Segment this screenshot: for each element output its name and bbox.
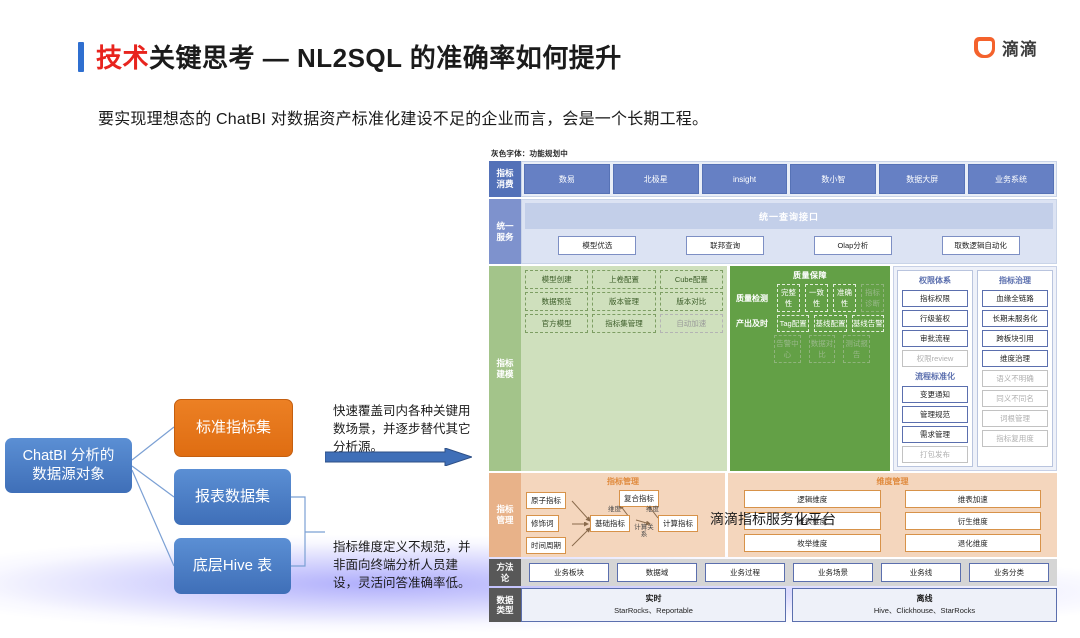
row-unified-service: 统一服务 统一查询接口 模型优选 联邦查询 Olap分析 取数逻辑自动化 xyxy=(489,199,1057,264)
node-chatbi-source: ChatBI 分析的数据源对象 xyxy=(5,438,132,493)
annotation-bottom: 指标维度定义不规范，并非面向终端分析人员建设，灵活问答准确率低。 xyxy=(333,538,475,592)
data-type-cell-offline: 离线 Hive、Clickhouse、StarRocks xyxy=(792,588,1057,622)
modeling-cell[interactable]: 版本管理 xyxy=(592,292,655,311)
consumption-cell[interactable]: insight xyxy=(702,164,788,194)
quality-row-label: 产出及时 xyxy=(736,318,772,329)
quality-row-label: 质量检测 xyxy=(736,293,772,304)
row-label-data-type: 数据类型 xyxy=(489,588,521,622)
modeling-cell[interactable]: 版本对比 xyxy=(660,292,723,311)
platform-caption: 滴滴指标服务化平台 xyxy=(489,509,1057,529)
graph-node-time-period: 时间周期 xyxy=(526,537,566,554)
side-item[interactable]: 需求管理 xyxy=(902,426,968,443)
quality-cell[interactable]: Tag配置 xyxy=(777,315,809,332)
methodology-cell[interactable]: 业务线 xyxy=(881,563,961,582)
row-label-unified-service: 统一服务 xyxy=(489,199,521,264)
methodology-cell[interactable]: 业务过程 xyxy=(705,563,785,582)
page-title: 技术关键思考 — NL2SQL 的准确率如何提升 xyxy=(78,38,622,75)
row-label-methodology: 方法论 xyxy=(489,559,521,586)
page-subtitle: 要实现理想态的 ChatBI 对数据资产标准化建设不足的企业而言，会是一个长期工… xyxy=(98,105,708,129)
methodology-cell[interactable]: 业务场景 xyxy=(793,563,873,582)
metric-management-title: 指标管理 xyxy=(524,476,722,487)
data-type-cell-realtime: 实时 StarRocks、Reportable xyxy=(521,588,786,622)
service-button[interactable]: 联邦查询 xyxy=(686,236,764,255)
modeling-cell[interactable]: 指标集管理 xyxy=(592,314,655,333)
side-item[interactable]: 管理规范 xyxy=(902,406,968,423)
quality-cell[interactable]: 完整性 xyxy=(777,284,800,312)
consumption-cell[interactable]: 数小智 xyxy=(790,164,876,194)
node-report-dataset: 报表数据集 xyxy=(174,469,291,525)
node-hive-table: 底层Hive 表 xyxy=(174,538,291,594)
methodology-cell[interactable]: 业务板块 xyxy=(529,563,609,582)
row-label-modeling: 指标建模 xyxy=(489,266,521,471)
governance-side-columns: 权限体系 指标权限 行级鉴权 审批流程 权限review 流程标准化 变更通知 … xyxy=(893,266,1057,471)
side-item[interactable]: 维度治理 xyxy=(982,350,1048,367)
modeling-cell[interactable]: 模型创建 xyxy=(525,270,588,289)
side-group-title: 流程标准化 xyxy=(902,370,968,383)
title-text: 技术关键思考 — NL2SQL 的准确率如何提升 xyxy=(96,38,622,75)
quality-cell[interactable]: 基线配置 xyxy=(814,315,846,332)
didi-logo: 滴滴 xyxy=(974,35,1038,60)
side-item[interactable]: 语义不明确 xyxy=(982,370,1048,387)
title-accent-bar xyxy=(78,42,84,72)
side-group-title: 权限体系 xyxy=(902,274,968,287)
data-type-detail: Hive、Clickhouse、StarRocks xyxy=(874,606,975,615)
consumption-cell[interactable]: 业务系统 xyxy=(968,164,1054,194)
side-column-permissions: 权限体系 指标权限 行级鉴权 审批流程 权限review 流程标准化 变更通知 … xyxy=(897,270,973,467)
side-item[interactable]: 审批流程 xyxy=(902,330,968,347)
dimension-cell[interactable]: 退化维度 xyxy=(905,534,1042,552)
side-item[interactable]: 同义不同名 xyxy=(982,390,1048,407)
row-label-consumption: 指标消费 xyxy=(489,161,521,197)
modeling-cell[interactable]: 数据预览 xyxy=(525,292,588,311)
side-item[interactable]: 血缘全链路 xyxy=(982,290,1048,307)
service-button[interactable]: 模型优选 xyxy=(558,236,636,255)
title-rest: 关键思考 — NL2SQL 的准确率如何提升 xyxy=(149,43,622,73)
graph-node-atomic-metric: 原子指标 xyxy=(526,492,566,509)
side-group-title: 指标治理 xyxy=(982,274,1048,287)
metric-platform-diagram: 灰色字体：功能规划中 指标消费 数易 北极星 insight 数小智 数据大屏 … xyxy=(489,148,1057,508)
row-metric-consumption: 指标消费 数易 北极星 insight 数小智 数据大屏 业务系统 xyxy=(489,161,1057,197)
consumption-cell[interactable]: 数据大屏 xyxy=(879,164,965,194)
dimension-cell[interactable]: 枚举维度 xyxy=(744,534,881,552)
quality-assurance-box: 质量保障 质量检测 完整性 一致性 准确性 指标诊断 产出及时 Tag配置 基线… xyxy=(730,266,890,471)
modeling-cell[interactable]: 上卷配置 xyxy=(592,270,655,289)
row-methodology: 方法论 业务板块 数据域 业务过程 业务场景 业务线 业务分类 xyxy=(489,559,1057,586)
quality-cell[interactable]: 指标诊断 xyxy=(861,284,884,312)
quality-title: 质量保障 xyxy=(736,270,884,281)
consumption-cell[interactable]: 北极星 xyxy=(613,164,699,194)
quality-cell[interactable]: 测试报告 xyxy=(843,335,870,363)
side-item[interactable]: 打包发布 xyxy=(902,446,968,463)
data-type-title: 离线 xyxy=(793,593,1056,605)
side-item[interactable]: 指标权限 xyxy=(902,290,968,307)
side-item[interactable]: 长期未服务化 xyxy=(982,310,1048,327)
quality-cell[interactable]: 准确性 xyxy=(833,284,856,312)
service-button[interactable]: 取数逻辑自动化 xyxy=(942,236,1020,255)
dimension-cell[interactable]: 逻辑维度 xyxy=(744,490,881,508)
service-button[interactable]: Olap分析 xyxy=(814,236,892,255)
arrow-right-icon xyxy=(325,448,472,466)
side-item[interactable]: 行级鉴权 xyxy=(902,310,968,327)
dimension-cell[interactable]: 维表加速 xyxy=(905,490,1042,508)
side-item[interactable]: 权限review xyxy=(902,350,968,367)
data-type-title: 实时 xyxy=(522,593,785,605)
didi-logo-icon xyxy=(974,37,995,58)
side-item[interactable]: 跨板块引用 xyxy=(982,330,1048,347)
consumption-cell[interactable]: 数易 xyxy=(524,164,610,194)
quality-cell[interactable]: 一致性 xyxy=(805,284,828,312)
node-standard-metric-set: 标准指标集 xyxy=(174,399,293,457)
row-data-type: 数据类型 实时 StarRocks、Reportable 离线 Hive、Cli… xyxy=(489,588,1057,622)
didi-logo-text: 滴滴 xyxy=(1002,35,1038,60)
quality-cell[interactable]: 基线告警 xyxy=(852,315,884,332)
graph-node-composite-metric: 复合指标 xyxy=(619,490,659,507)
quality-cell[interactable]: 告警中心 xyxy=(774,335,801,363)
side-item[interactable]: 指标复用度 xyxy=(982,430,1048,447)
unified-query-interface: 统一查询接口 xyxy=(525,203,1053,229)
quality-cell[interactable]: 数据对比 xyxy=(809,335,836,363)
methodology-cell[interactable]: 业务分类 xyxy=(969,563,1049,582)
dimension-management-title: 维度管理 xyxy=(734,476,1051,487)
modeling-feature-box: 模型创建 上卷配置 Cube配置 数据预览 版本管理 版本对比 官方模型 指标集… xyxy=(521,266,727,471)
side-item[interactable]: 词根管理 xyxy=(982,410,1048,427)
row-metric-modeling: 指标建模 模型创建 上卷配置 Cube配置 数据预览 版本管理 版本对比 官方模… xyxy=(489,266,1057,471)
modeling-cell[interactable]: 官方模型 xyxy=(525,314,588,333)
modeling-cell[interactable]: 自动加速 xyxy=(660,314,723,333)
side-item[interactable]: 变更通知 xyxy=(902,386,968,403)
data-source-diagram: ChatBI 分析的数据源对象 标准指标集 报表数据集 底层Hive 表 快速覆… xyxy=(0,180,480,430)
legend-note: 灰色字体：功能规划中 xyxy=(491,148,1057,159)
data-type-detail: StarRocks、Reportable xyxy=(614,606,693,615)
methodology-cell[interactable]: 数据域 xyxy=(617,563,697,582)
title-highlight: 技术 xyxy=(96,43,149,73)
modeling-cell[interactable]: Cube配置 xyxy=(660,270,723,289)
side-column-governance: 指标治理 血缘全链路 长期未服务化 跨板块引用 维度治理 语义不明确 同义不同名… xyxy=(977,270,1053,467)
